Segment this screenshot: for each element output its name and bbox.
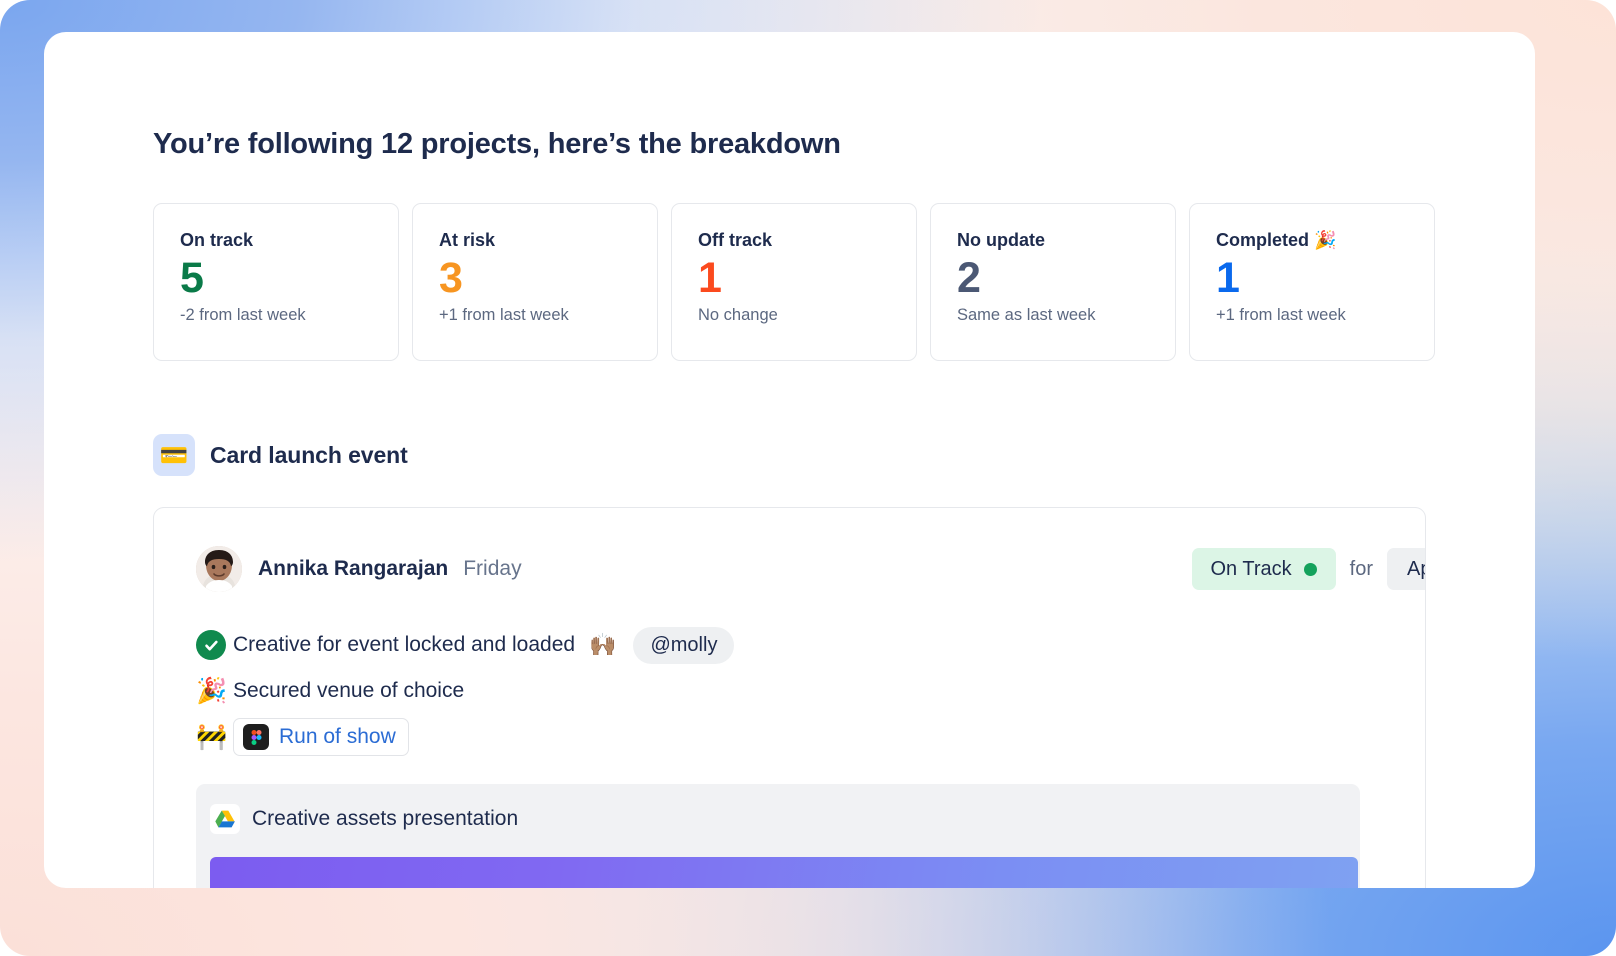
- status-badge-label: On Track: [1211, 558, 1292, 581]
- google-drive-icon: [210, 804, 240, 834]
- status-update-header: Annika Rangarajan Friday On Track for Ap…: [196, 546, 1425, 592]
- stat-label-text: No update: [957, 230, 1045, 251]
- stat-label-text: Completed: [1216, 230, 1309, 251]
- status-group: On Track for April: [1192, 546, 1427, 592]
- attachment-title: Creative assets presentation: [252, 807, 518, 831]
- mention-pill[interactable]: @molly: [633, 627, 734, 664]
- stat-label: No update: [957, 230, 1175, 251]
- stat-label-text: Off track: [698, 230, 772, 251]
- figma-icon: [243, 724, 269, 750]
- update-day: Friday: [463, 557, 521, 581]
- stat-card-completed[interactable]: Completed 🎉 1 +1 from last week: [1189, 203, 1435, 361]
- attachment-header: Creative assets presentation: [210, 804, 1360, 834]
- update-checklist: Creative for event locked and loaded 🙌🏽 …: [196, 625, 1425, 757]
- stat-card-off-track[interactable]: Off track 1 No change: [671, 203, 917, 361]
- checklist-item-text: Secured venue of choice: [233, 679, 464, 703]
- status-summary-cards: On track 5 -2 from last week At risk 3 +…: [153, 203, 1535, 361]
- stat-label: Off track: [698, 230, 916, 251]
- stat-card-no-update[interactable]: No update 2 Same as last week: [930, 203, 1176, 361]
- stat-value: 2: [957, 254, 1175, 302]
- month-badge[interactable]: April: [1387, 548, 1426, 590]
- construction-icon: 🚧: [196, 725, 230, 750]
- stat-delta: Same as last week: [957, 306, 1175, 325]
- credit-card-icon: 💳: [153, 434, 195, 476]
- project-heading[interactable]: 💳 Card launch event: [153, 434, 1535, 476]
- status-update-card: Annika Rangarajan Friday On Track for Ap…: [153, 507, 1426, 888]
- checklist-item: 🚧 Run of show: [196, 717, 1425, 757]
- stat-card-on-track[interactable]: On track 5 -2 from last week: [153, 203, 399, 361]
- update-author: Annika Rangarajan: [258, 557, 448, 581]
- checklist-item: Creative for event locked and loaded 🙌🏽 …: [196, 625, 1425, 665]
- stat-delta: +1 from last week: [1216, 306, 1434, 325]
- status-for-label: for: [1350, 558, 1373, 581]
- stat-delta: No change: [698, 306, 916, 325]
- stat-value: 5: [180, 254, 398, 302]
- figma-link-text: Run of show: [279, 725, 396, 749]
- stat-delta: -2 from last week: [180, 306, 398, 325]
- avatar[interactable]: [196, 546, 242, 592]
- attachment-card[interactable]: Creative assets presentation: [196, 784, 1360, 888]
- stat-value: 1: [1216, 254, 1434, 302]
- party-popper-icon: 🎉: [196, 679, 230, 704]
- stat-label-text: At risk: [439, 230, 495, 251]
- app-panel: You’re following 12 projects, here’s the…: [44, 32, 1535, 888]
- stat-value: 3: [439, 254, 657, 302]
- project-name: Card launch event: [210, 442, 408, 469]
- attachment-preview-thumbnail[interactable]: [210, 857, 1358, 888]
- checklist-item-text: Creative for event locked and loaded: [233, 633, 575, 657]
- stat-label-text: On track: [180, 230, 253, 251]
- party-popper-icon: 🎉: [1314, 230, 1336, 251]
- stat-label: On track: [180, 230, 398, 251]
- status-dot-icon: [1304, 563, 1317, 576]
- stat-label: Completed 🎉: [1216, 230, 1434, 251]
- figma-link-chip[interactable]: Run of show: [233, 718, 409, 756]
- stat-value: 1: [698, 254, 916, 302]
- check-circle-icon: [196, 630, 230, 660]
- page-title: You’re following 12 projects, here’s the…: [153, 128, 1535, 161]
- stat-delta: +1 from last week: [439, 306, 657, 325]
- checklist-item: 🎉 Secured venue of choice: [196, 671, 1425, 711]
- stat-card-at-risk[interactable]: At risk 3 +1 from last week: [412, 203, 658, 361]
- stat-label: At risk: [439, 230, 657, 251]
- month-label: April: [1407, 558, 1426, 581]
- raising-hands-icon: 🙌🏽: [589, 634, 616, 656]
- status-badge[interactable]: On Track: [1192, 548, 1336, 590]
